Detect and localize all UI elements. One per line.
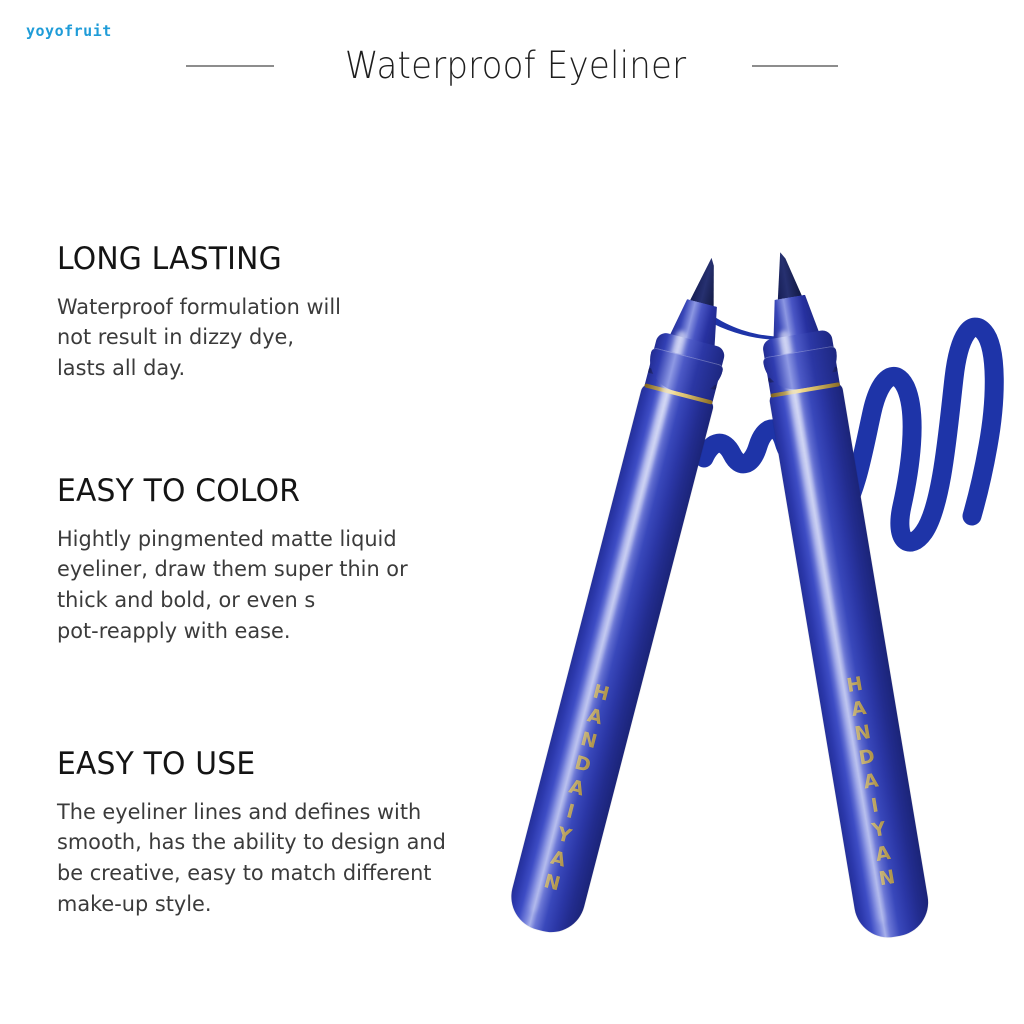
watermark-yoyofruit: yoyofruit	[26, 22, 112, 40]
pen-brand-label: HANDAIYAN	[816, 668, 925, 898]
page-header: Waterproof Eyeliner	[0, 44, 1024, 87]
pen-brand-label: HANDAIYAN	[513, 673, 640, 905]
feature-body-line: Hightly pingmented matte liquid	[57, 525, 408, 556]
feature-block-easy-to-color: EASY TO COLOR Hightly pingmented matte l…	[57, 475, 419, 647]
product-marketing-page: yoyofruit Waterproof Eyeliner LONG LASTI…	[0, 0, 1024, 1024]
feature-body-line: make-up style.	[57, 890, 446, 921]
feature-title: LONG LASTING	[57, 243, 338, 276]
feature-body-line: pot-reapply with ease.	[57, 617, 408, 648]
feature-body-line: thick and bold, or even s	[57, 586, 408, 617]
product-image: HANDAIYAN HANDAIYAN	[600, 130, 1024, 1024]
page-title: Waterproof Eyeliner	[345, 44, 686, 87]
header-rule-left	[186, 65, 274, 67]
eyeliner-pen-left: HANDAIYAN	[643, 383, 715, 402]
feature-body-line: eyeliner, draw them super thin or	[57, 555, 408, 586]
feature-body-line: be creative, easy to match different	[57, 859, 446, 890]
eyeliner-pen-right: HANDAIYAN	[769, 382, 842, 394]
feature-body: The eyeliner lines and defines with smoo…	[57, 798, 446, 921]
feature-body-line: lasts all day.	[57, 354, 341, 385]
feature-body-line: The eyeliner lines and defines with	[57, 798, 446, 829]
feature-body: Hightly pingmented matte liquid eyeliner…	[57, 525, 408, 648]
header-rule-right	[752, 65, 838, 67]
feature-title: EASY TO USE	[57, 748, 442, 781]
feature-body-line: not result in dizzy dye,	[57, 323, 341, 354]
feature-block-long-lasting: LONG LASTING Waterproof formulation will…	[57, 243, 350, 385]
feature-body: Waterproof formulation will not result i…	[57, 293, 341, 385]
feature-block-easy-to-use: EASY TO USE The eyeliner lines and defin…	[57, 748, 458, 920]
feature-body-line: Waterproof formulation will	[57, 293, 341, 324]
feature-title: EASY TO COLOR	[57, 475, 404, 508]
feature-body-line: smooth, has the ability to design and	[57, 828, 446, 859]
